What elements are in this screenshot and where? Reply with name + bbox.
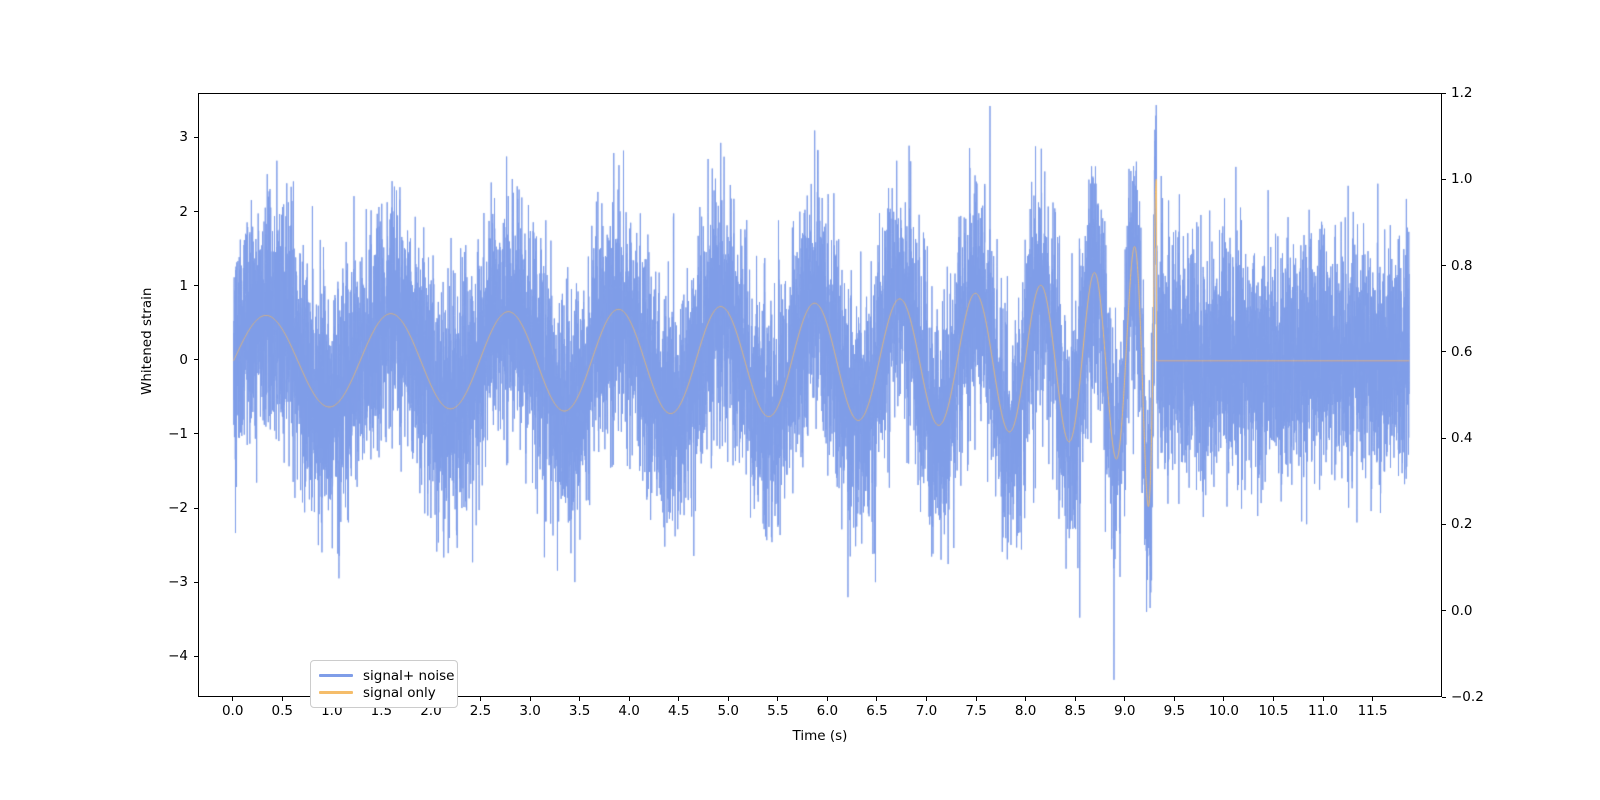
y-tick-mark-right (1442, 438, 1446, 439)
y-tick-mark-left (194, 656, 198, 657)
x-tick-mark (530, 697, 531, 701)
y-tick-mark-right (1442, 93, 1446, 94)
y-tick-label-right: 0.0 (1451, 603, 1497, 619)
x-tick-label: 0.0 (222, 703, 243, 719)
x-tick-mark (282, 697, 283, 701)
x-axis-label: Time (s) (793, 728, 848, 744)
legend-item-signal-only[interactable]: signal only (319, 684, 449, 701)
y-tick-label-left: 0 (156, 352, 188, 368)
y-tick-label-right: 0.6 (1451, 344, 1497, 360)
legend[interactable]: signal+ noise signal only (310, 660, 458, 708)
y-tick-mark-right (1442, 524, 1446, 525)
y-tick-mark-right (1442, 179, 1446, 180)
x-tick-mark (728, 697, 729, 701)
y-tick-mark-left (194, 211, 198, 212)
y-tick-mark-left (194, 508, 198, 509)
y-tick-label-left: −1 (156, 426, 188, 442)
y-tick-label-left: 3 (156, 129, 188, 145)
x-tick-label: 3.0 (519, 703, 540, 719)
plot-canvas-wrapper (199, 94, 1441, 696)
x-tick-mark (1323, 697, 1324, 701)
x-tick-label: 0.5 (272, 703, 293, 719)
y-tick-label-left: 2 (156, 204, 188, 220)
x-tick-mark (232, 697, 233, 701)
x-tick-mark (1372, 697, 1373, 701)
x-tick-mark (1223, 697, 1224, 701)
y-tick-label-left: −3 (156, 574, 188, 590)
legend-label-signal-noise: signal+ noise (363, 668, 454, 684)
legend-label-signal-only: signal only (363, 685, 436, 701)
x-tick-mark (678, 697, 679, 701)
x-tick-label: 8.0 (1015, 703, 1036, 719)
legend-item-signal-noise[interactable]: signal+ noise (319, 667, 449, 684)
y-tick-mark-left (194, 582, 198, 583)
x-tick-label: 10.5 (1258, 703, 1288, 719)
x-tick-mark (1174, 697, 1175, 701)
x-tick-label: 2.5 (470, 703, 491, 719)
legend-swatch-signal-noise (319, 674, 353, 677)
x-tick-label: 11.0 (1308, 703, 1338, 719)
y-tick-label-right: 1.2 (1451, 85, 1497, 101)
x-tick-mark (777, 697, 778, 701)
y-tick-mark-right (1442, 697, 1446, 698)
x-tick-label: 7.0 (916, 703, 937, 719)
x-tick-mark (629, 697, 630, 701)
x-tick-label: 8.5 (1064, 703, 1085, 719)
x-tick-label: 9.5 (1164, 703, 1185, 719)
x-tick-label: 4.0 (618, 703, 639, 719)
y-tick-label-left: −4 (156, 648, 188, 664)
y-axis-label: Whitened strain (139, 288, 155, 395)
x-tick-label: 5.0 (718, 703, 739, 719)
y-tick-label-right: −0.2 (1451, 689, 1497, 705)
y-tick-label-right: 0.4 (1451, 430, 1497, 446)
x-tick-mark (1124, 697, 1125, 701)
y-tick-label-left: 1 (156, 278, 188, 294)
y-tick-label-right: 0.2 (1451, 516, 1497, 532)
y-tick-mark-left (194, 433, 198, 434)
y-tick-label-right: 1.0 (1451, 171, 1497, 187)
x-tick-mark (827, 697, 828, 701)
x-tick-mark (976, 697, 977, 701)
x-tick-mark (1025, 697, 1026, 701)
x-tick-label: 7.5 (965, 703, 986, 719)
x-tick-mark (480, 697, 481, 701)
y-tick-mark-right (1442, 265, 1446, 266)
x-tick-label: 11.5 (1358, 703, 1388, 719)
x-tick-label: 4.5 (668, 703, 689, 719)
figure: 0.00.51.01.52.02.53.03.54.04.55.05.56.06… (0, 0, 1600, 800)
y-tick-label-left: −2 (156, 500, 188, 516)
x-tick-mark (579, 697, 580, 701)
y-tick-mark-right (1442, 610, 1446, 611)
legend-swatch-signal-only (319, 691, 353, 694)
x-tick-label: 9.0 (1114, 703, 1135, 719)
y-tick-mark-left (194, 137, 198, 138)
plot-axes (198, 93, 1442, 697)
x-tick-label: 3.5 (569, 703, 590, 719)
y-tick-label-right: 0.8 (1451, 258, 1497, 274)
x-tick-mark (876, 697, 877, 701)
y-tick-mark-right (1442, 351, 1446, 352)
x-tick-label: 6.5 (866, 703, 887, 719)
x-tick-label: 5.5 (767, 703, 788, 719)
x-tick-label: 6.0 (817, 703, 838, 719)
x-tick-mark (1273, 697, 1274, 701)
signal-plot-canvas (199, 94, 1442, 697)
x-tick-mark (1075, 697, 1076, 701)
x-tick-mark (926, 697, 927, 701)
y-tick-mark-left (194, 359, 198, 360)
y-tick-mark-left (194, 285, 198, 286)
x-tick-label: 10.0 (1209, 703, 1239, 719)
